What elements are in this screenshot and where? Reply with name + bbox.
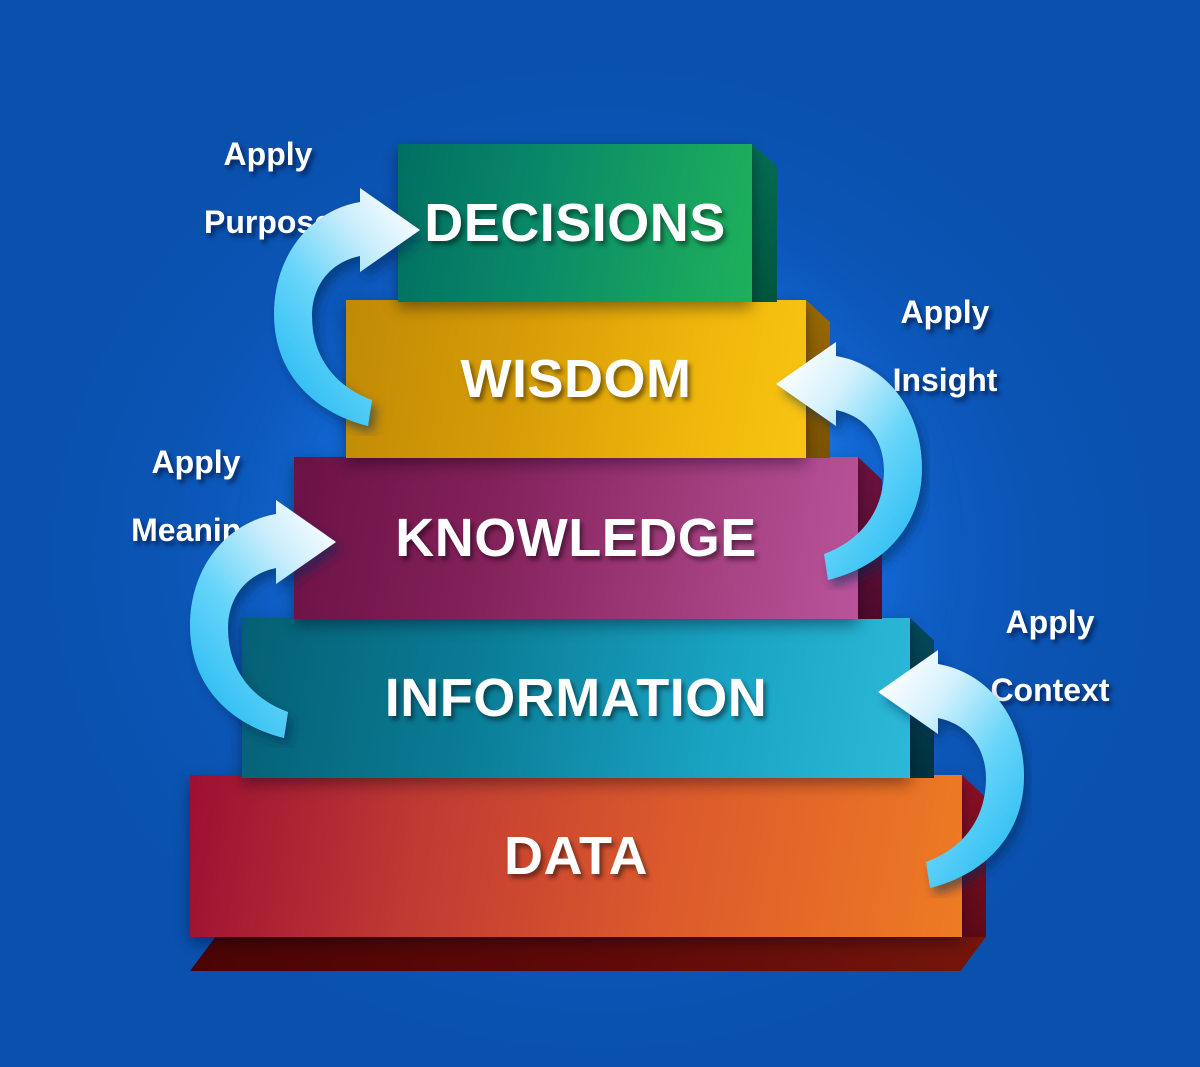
pyramid-level-label-information: INFORMATION (242, 618, 910, 778)
pyramid-level-information[interactable]: INFORMATION (242, 618, 910, 778)
pyramid-level-data[interactable]: DATA (190, 775, 962, 937)
pyramid-level-decisions[interactable]: DECISIONS (398, 144, 752, 302)
transition-label-apply-insight: Apply Insight (850, 262, 1040, 398)
decisions-side-face (752, 144, 777, 302)
knowledge-side-face (858, 457, 882, 619)
apply-insight-line2: Insight (893, 362, 998, 398)
apply-purpose-line2: Purpose (204, 204, 332, 240)
information-side-face (910, 618, 934, 778)
transition-label-apply-purpose: Apply Purpose (178, 104, 358, 240)
pyramid-level-wisdom[interactable]: WISDOM (346, 300, 806, 458)
transition-label-apply-meaning: Apply Meaning (98, 412, 294, 548)
transition-label-apply-context: Apply Context (950, 572, 1150, 708)
data-bottom-face (190, 937, 986, 971)
apply-context-line1: Apply (1006, 604, 1095, 640)
apply-meaning-line2: Meaning (131, 512, 261, 548)
apply-purpose-line1: Apply (224, 136, 313, 172)
apply-context-line2: Context (990, 672, 1109, 708)
pyramid-level-label-data: DATA (190, 775, 962, 937)
apply-insight-line1: Apply (901, 294, 990, 330)
wisdom-side-face (806, 300, 830, 458)
pyramid-level-label-knowledge: KNOWLEDGE (294, 457, 858, 619)
pyramid-level-label-wisdom: WISDOM (346, 300, 806, 458)
apply-meaning-line1: Apply (152, 444, 241, 480)
pyramid-level-knowledge[interactable]: KNOWLEDGE (294, 457, 858, 619)
data-side-face (962, 775, 986, 937)
dikw-pyramid-diagram: DATA INFORMATION KNOWLEDGE WISDOM DECISI… (0, 0, 1200, 1067)
pyramid-level-label-decisions: DECISIONS (398, 144, 752, 302)
